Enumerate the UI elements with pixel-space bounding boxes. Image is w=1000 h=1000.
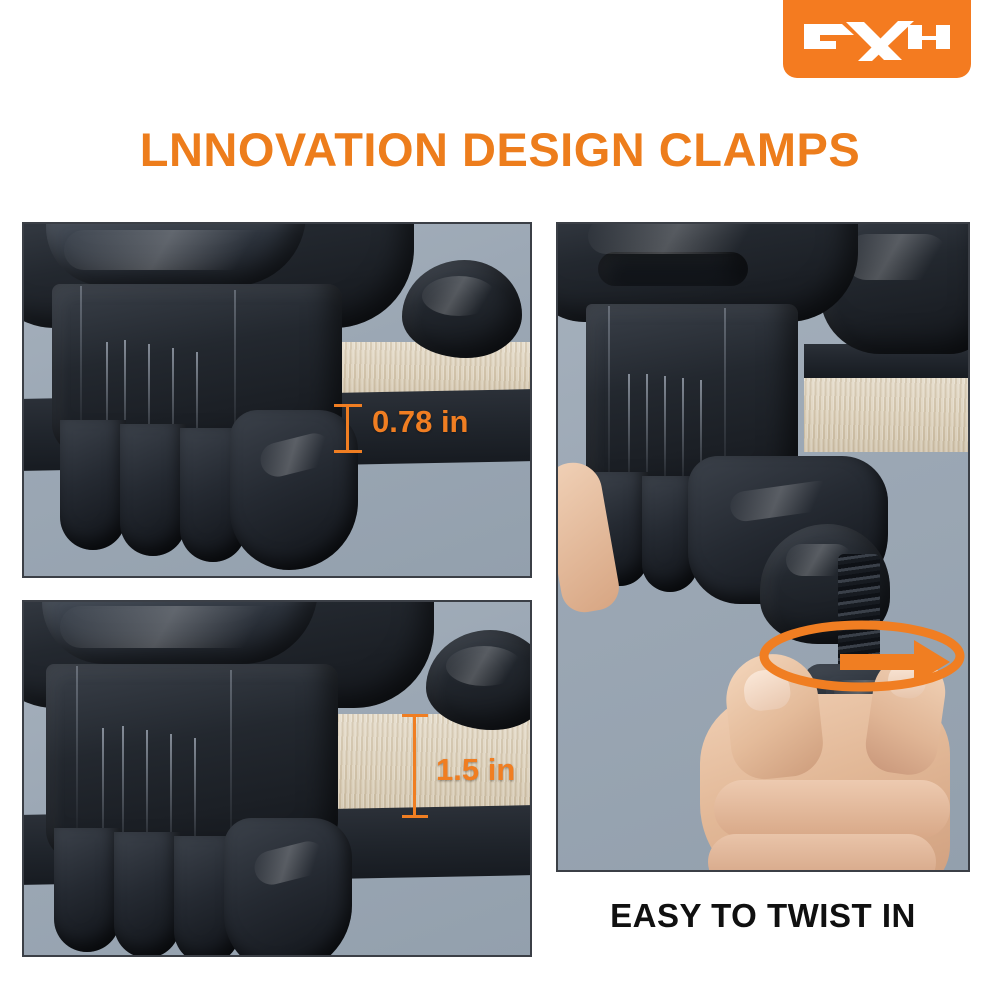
clamp-rib	[682, 378, 684, 480]
photo-background: 1.5 in	[24, 602, 530, 955]
pxn-wordmark-logo	[802, 16, 952, 62]
photo-background: 0.78 in	[24, 224, 530, 576]
clamp-rib-edge	[76, 666, 78, 832]
clamp-top-arm-slot	[598, 252, 748, 286]
clamp-rib	[102, 728, 104, 844]
photo-background	[558, 224, 968, 870]
clamp-upper-foot	[426, 630, 532, 730]
dimension-label-thickness-min: 0.78 in	[372, 404, 469, 440]
clamp-rib	[122, 726, 124, 846]
pxn-logo-badge	[783, 0, 971, 78]
desk-wood-slab	[804, 374, 970, 452]
clamp-rib	[194, 738, 196, 846]
clamp-rib	[146, 730, 148, 846]
clamp-rib-edge	[608, 306, 610, 482]
clamp-top-arm-inner	[42, 600, 318, 664]
clamp-finger-pad	[114, 832, 180, 957]
page-title: LNNOVATION DESIGN CLAMPS	[0, 122, 1000, 178]
dimension-cap-bottom	[334, 450, 362, 453]
hand-finger-ring	[708, 834, 936, 872]
clamp-rib-edge	[230, 670, 232, 846]
clamp-finger-pad	[54, 828, 120, 952]
clamp-upper-foot	[402, 260, 522, 358]
rotation-arrow-icon	[754, 610, 970, 702]
clamp-rib-edge	[80, 286, 82, 436]
clamp-rib	[664, 376, 666, 480]
dimension-line	[346, 404, 349, 452]
clamp-thickness-maximum-photo: 1.5 in	[22, 600, 532, 957]
clamp-rib	[646, 374, 648, 480]
clamp-rib	[170, 734, 172, 846]
hand-twisting-knob-photo	[556, 222, 970, 872]
dimension-line	[413, 714, 416, 818]
hand-finger-middle	[714, 780, 950, 838]
clamp-top-arm-inner	[46, 222, 306, 286]
clamp-rib	[628, 374, 630, 478]
caption-easy-to-twist-in: EASY TO TWIST IN	[556, 897, 970, 935]
dimension-cap-bottom	[402, 815, 428, 818]
dimension-label-thickness-max: 1.5 in	[436, 752, 515, 788]
clamp-lower-jaw	[224, 818, 352, 957]
clamp-finger-pad	[60, 420, 126, 550]
clamp-thickness-minimum-photo: 0.78 in	[22, 222, 532, 578]
clamp-finger-pad	[120, 424, 186, 556]
clamp-lower-jaw	[230, 410, 358, 570]
